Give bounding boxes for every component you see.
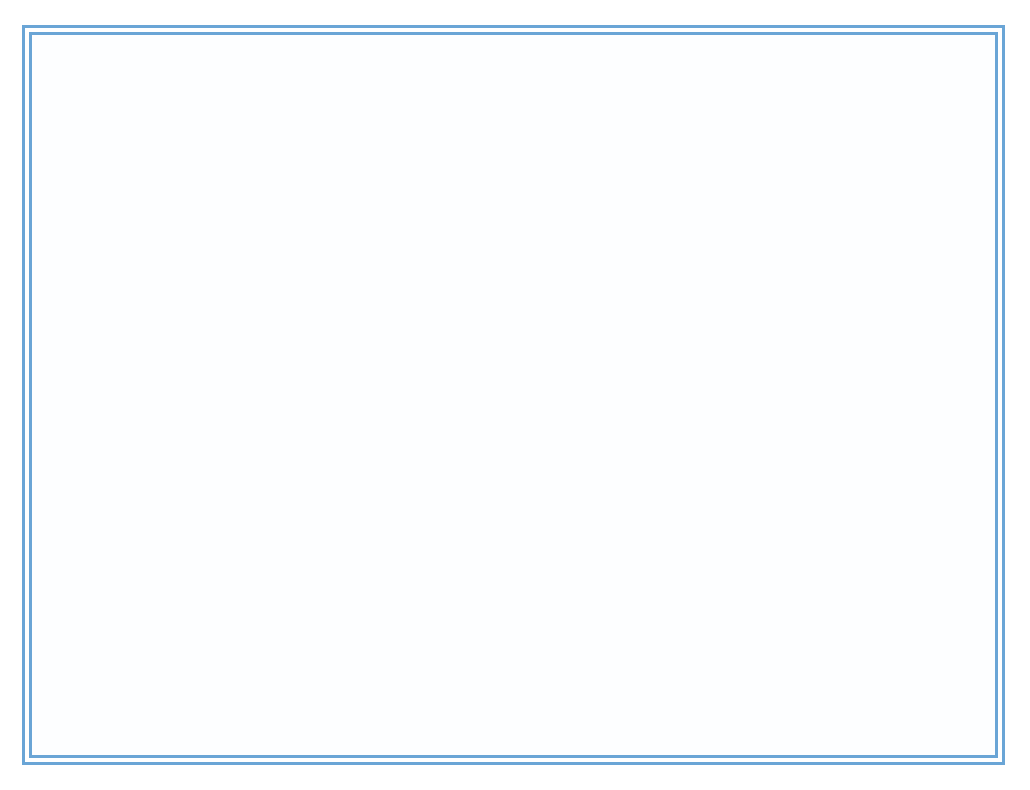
range-chart-svg [250, 470, 880, 655]
presentation-slide [0, 0, 1030, 790]
bullet-marker-icon [128, 250, 154, 254]
xbar-chart-svg [250, 248, 880, 438]
xbar-control-chart [250, 248, 880, 438]
bullet-list [128, 250, 238, 506]
range-control-chart [250, 470, 880, 655]
